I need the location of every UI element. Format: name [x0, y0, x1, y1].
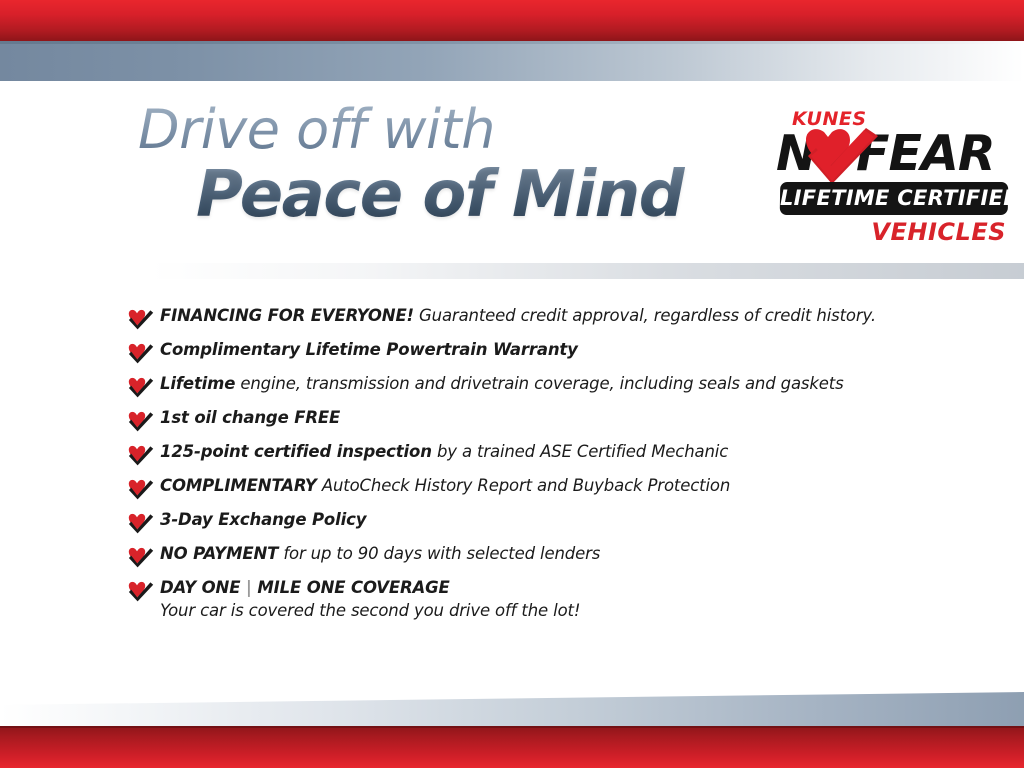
heart-check-logo-icon	[804, 126, 880, 186]
list-item-body: DAY ONE | MILE ONE COVERAGE Your car is …	[154, 578, 958, 621]
list-item: 125-point certified inspection by a trai…	[128, 442, 958, 466]
list-item-text: DAY ONE | MILE ONE COVERAGE	[160, 578, 958, 598]
logo-certified-label: LIFETIME CERTIFIED	[780, 182, 1008, 215]
heart-check-icon	[128, 478, 154, 500]
heart-check-icon	[128, 376, 154, 398]
list-item-text: 3-Day Exchange Policy	[160, 510, 958, 530]
list-item-text: 125-point certified inspection by a trai…	[160, 442, 958, 462]
logo-vehicles-label: VEHICLES	[871, 218, 1006, 246]
header-divider	[150, 263, 1024, 279]
benefits-list: FINANCING FOR EVERYONE! Guaranteed credi…	[128, 306, 958, 631]
heart-check-icon	[128, 546, 154, 568]
heart-check-icon	[128, 580, 154, 602]
header: Drive off with Peace of Mind KUNES NFEAR…	[0, 81, 1024, 271]
list-item: COMPLIMENTARY AutoCheck History Report a…	[128, 476, 958, 500]
list-item: Complimentary Lifetime Powertrain Warran…	[128, 340, 958, 364]
list-item-text: Lifetime engine, transmission and drivet…	[160, 374, 958, 394]
heart-check-icon	[128, 410, 154, 432]
list-item-body: FINANCING FOR EVERYONE! Guaranteed credi…	[154, 306, 958, 326]
list-item: Lifetime engine, transmission and drivet…	[128, 374, 958, 398]
top-red-banner	[0, 0, 1024, 41]
headline-block: Drive off with Peace of Mind	[138, 103, 758, 227]
list-item-body: NO PAYMENT for up to 90 days with select…	[154, 544, 958, 564]
list-item-body: COMPLIMENTARY AutoCheck History Report a…	[154, 476, 958, 496]
advertisement-canvas: Drive off with Peace of Mind KUNES NFEAR…	[0, 0, 1024, 768]
list-item-body: 3-Day Exchange Policy	[154, 510, 958, 530]
list-item-text: Complimentary Lifetime Powertrain Warran…	[160, 340, 958, 360]
bottom-gray-banner	[0, 692, 1024, 726]
list-item: NO PAYMENT for up to 90 days with select…	[128, 544, 958, 568]
list-item-text: NO PAYMENT for up to 90 days with select…	[160, 544, 958, 564]
list-item-body: 1st oil change FREE	[154, 408, 958, 428]
headline-line-1: Drive off with	[138, 103, 758, 157]
list-item-text: FINANCING FOR EVERYONE! Guaranteed credi…	[160, 306, 958, 326]
list-item-text: 1st oil change FREE	[160, 408, 958, 428]
list-item: 3-Day Exchange Policy	[128, 510, 958, 534]
list-item-text: COMPLIMENTARY AutoCheck History Report a…	[160, 476, 958, 496]
list-item: FINANCING FOR EVERYONE! Guaranteed credi…	[128, 306, 958, 330]
list-item-body: 125-point certified inspection by a trai…	[154, 442, 958, 462]
list-item: 1st oil change FREE	[128, 408, 958, 432]
heart-check-icon	[128, 512, 154, 534]
heart-check-icon	[128, 444, 154, 466]
headline-line-2: Peace of Mind	[196, 163, 758, 227]
list-item: DAY ONE | MILE ONE COVERAGE Your car is …	[128, 578, 958, 621]
top-gray-banner	[0, 41, 1024, 81]
list-item-subtext: Your car is covered the second you drive…	[160, 601, 958, 621]
heart-check-icon	[128, 308, 154, 330]
bottom-red-banner	[0, 726, 1024, 768]
list-item-body: Complimentary Lifetime Powertrain Warran…	[154, 340, 958, 360]
kunes-no-fear-logo: KUNES NFEAR LIFETIME CERTIFIED VEHICLES	[776, 108, 1012, 253]
list-item-body: Lifetime engine, transmission and drivet…	[154, 374, 958, 394]
heart-check-icon	[128, 342, 154, 364]
